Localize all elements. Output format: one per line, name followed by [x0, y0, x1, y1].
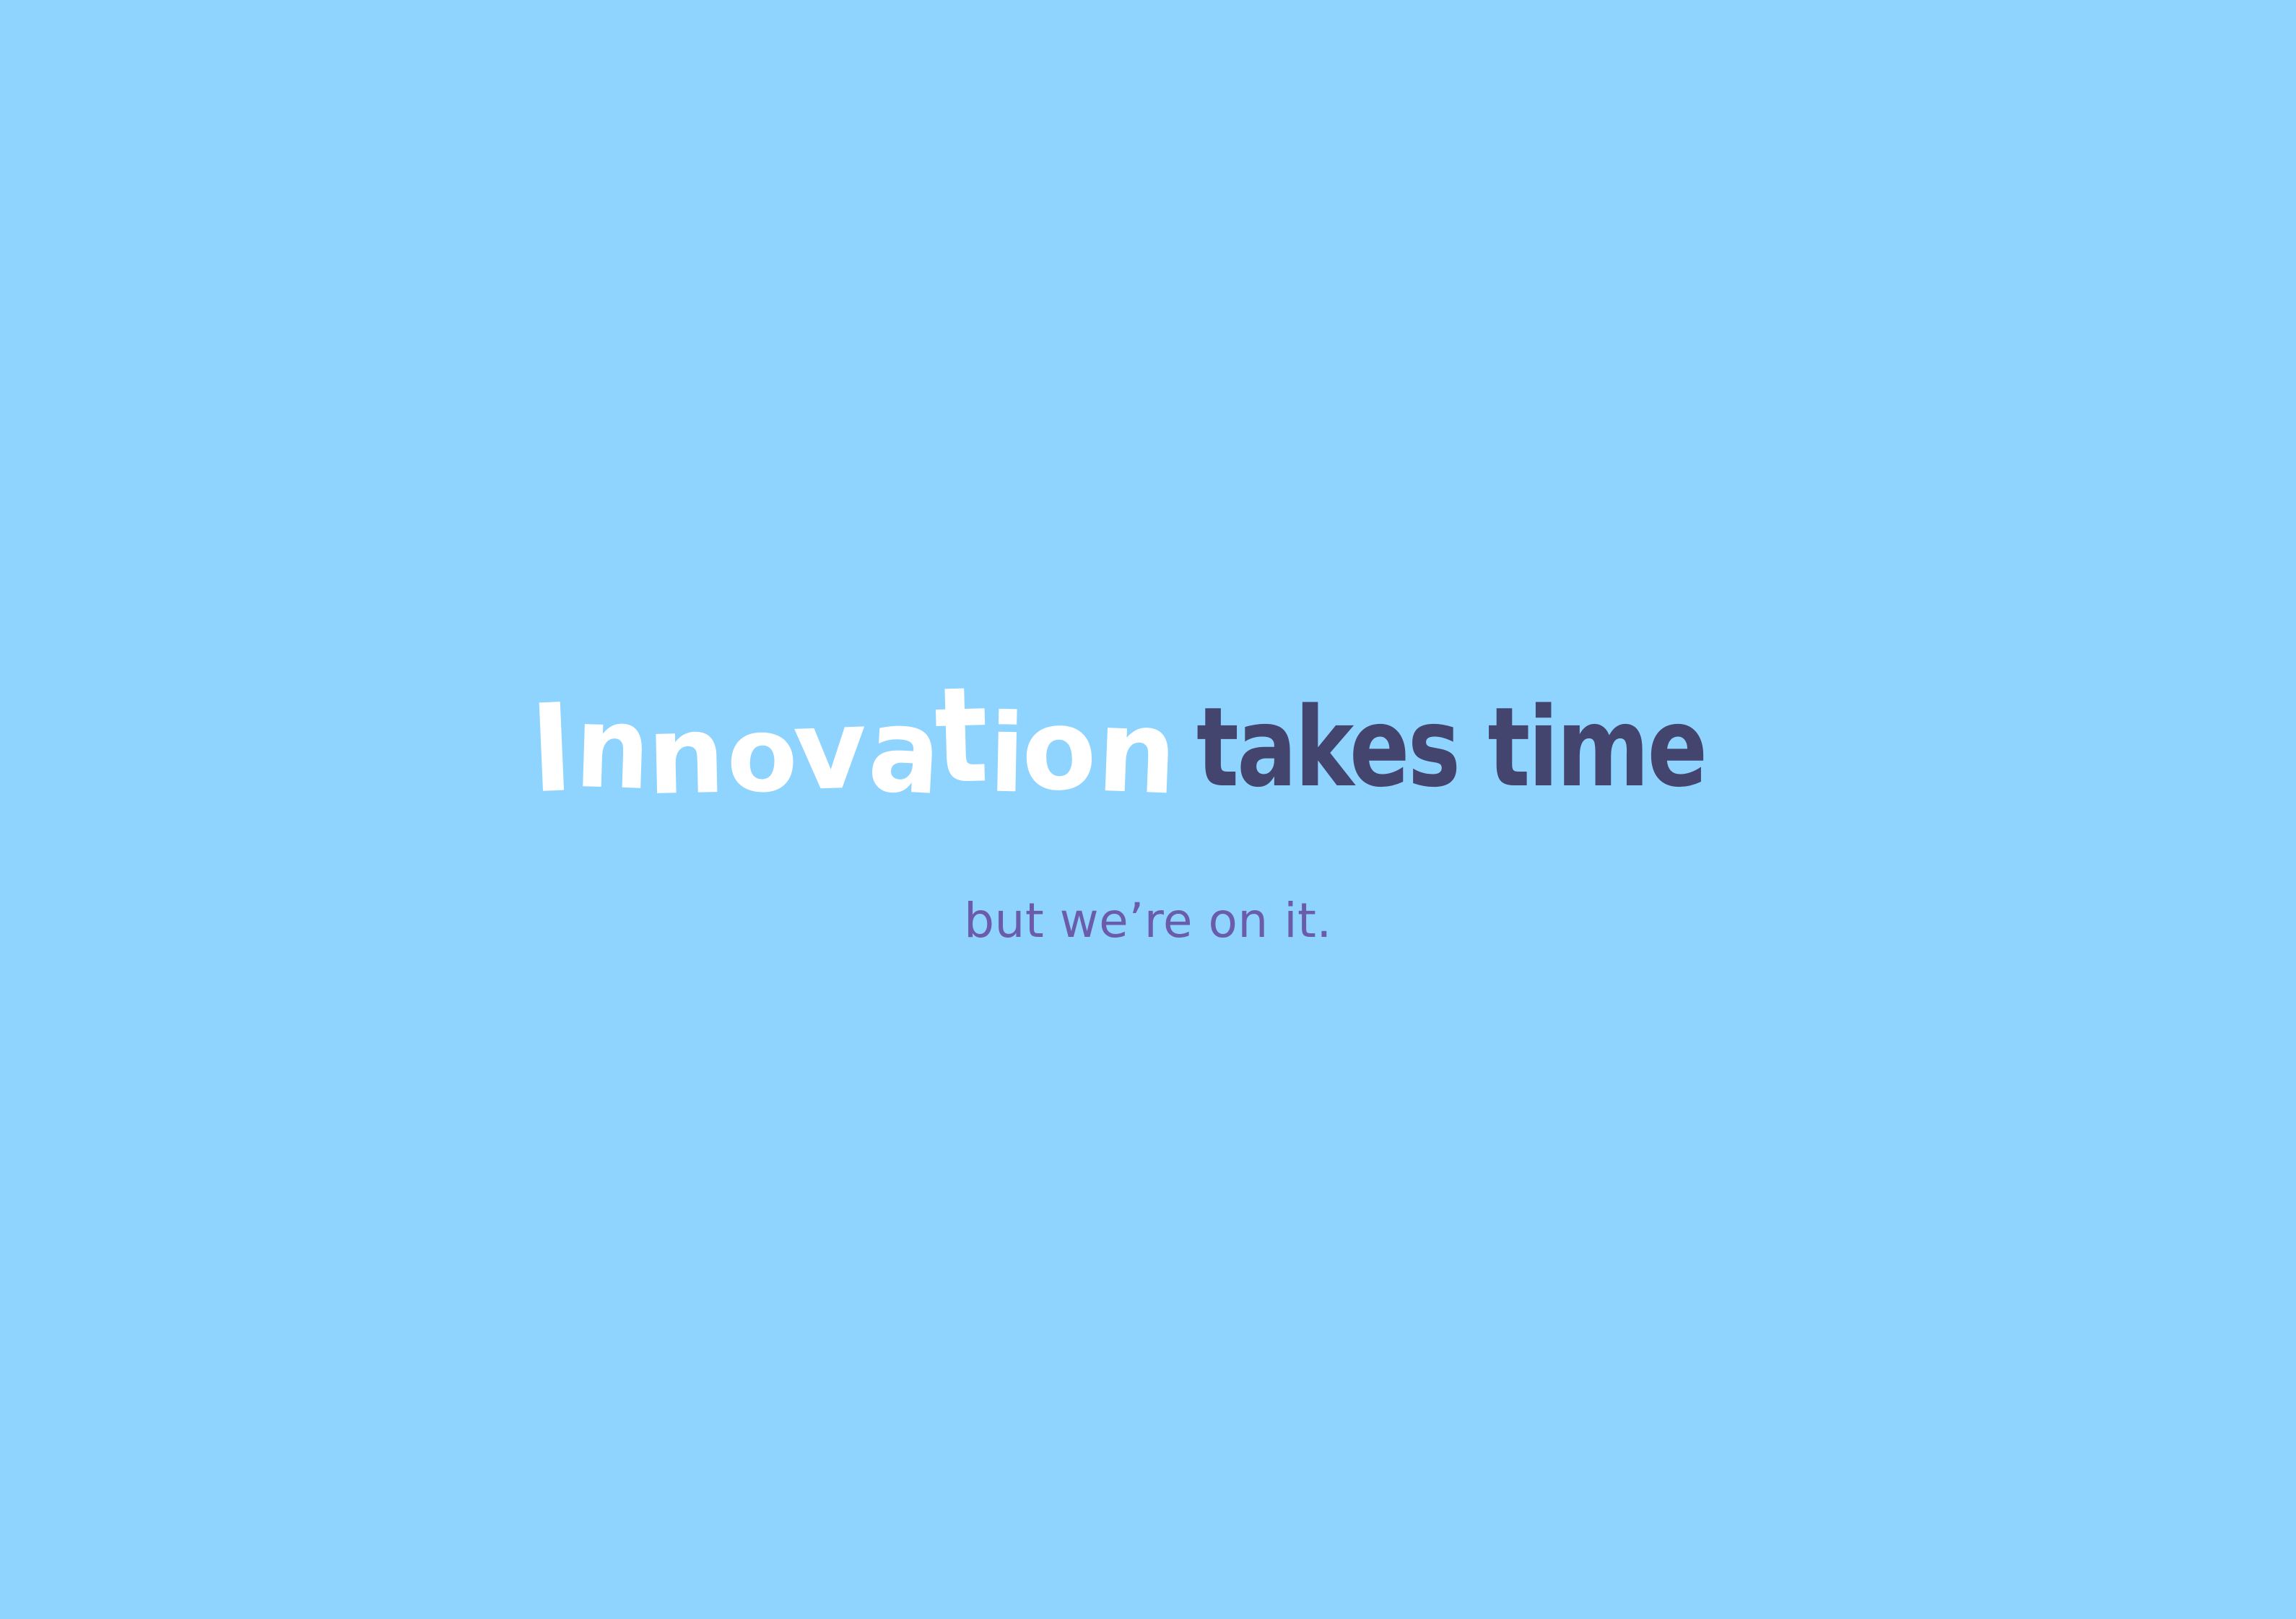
headline-letter: t	[934, 670, 988, 803]
headline-letter: n	[645, 701, 724, 811]
headline-phrase-takes-time: takes time	[1196, 693, 1705, 803]
headline-word-innovation: Innovation	[534, 699, 1172, 807]
headline: Innovationtakes time	[0, 693, 2296, 803]
headline-letter: v	[792, 694, 868, 807]
subtitle: but we’re on it.	[0, 897, 2296, 945]
headline-letter: o	[725, 702, 799, 808]
headline-letter: I	[529, 688, 574, 811]
headline-letter: i	[988, 700, 1025, 809]
message-block: Innovationtakes time but we’re on it.	[0, 0, 2296, 1619]
headline-letter: o	[1019, 692, 1097, 808]
headline-letter: n	[1095, 694, 1177, 811]
page-canvas: Innovationtakes time but we’re on it.	[0, 0, 2296, 1619]
headline-letter: a	[866, 691, 942, 812]
headline-letter: n	[573, 691, 651, 807]
